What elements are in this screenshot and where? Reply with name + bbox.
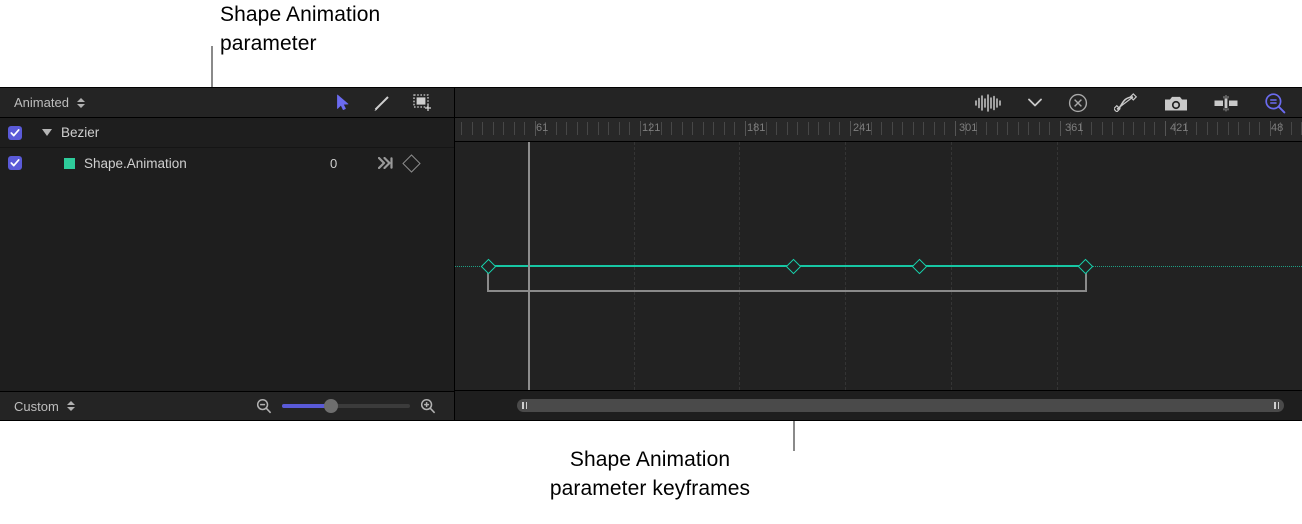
ruler-tick [493, 122, 494, 135]
parameter-row-shape-animation[interactable]: Shape.Animation 0 [0, 148, 454, 178]
snapshot-camera-icon[interactable] [1164, 94, 1188, 112]
ruler-tick [682, 122, 683, 135]
ruler-label: 61 [536, 122, 548, 134]
ruler-label: 121 [642, 122, 660, 134]
shape-animation-color-swatch [64, 158, 75, 169]
parameter-rows: Bezier Shape.Animation 0 [0, 118, 454, 391]
ruler-tick [598, 122, 599, 135]
ruler-tick [1165, 121, 1166, 136]
next-keyframe-icon[interactable] [378, 157, 395, 169]
ruler-tick [1249, 122, 1250, 135]
ruler-tick [1123, 122, 1124, 135]
ruler-tick [556, 122, 557, 135]
parameter-list-pane: Animated [0, 88, 455, 420]
ruler-tick [1144, 122, 1145, 135]
reset-circle-x-icon[interactable] [1068, 93, 1088, 113]
ruler-tick [566, 122, 567, 135]
graph-toolbar [455, 88, 1302, 118]
ruler-tick [892, 122, 893, 135]
ruler-tick [1049, 122, 1050, 135]
ruler-tick [703, 122, 704, 135]
keyframe-editor-window: Animated [0, 87, 1302, 421]
ruler-tick [692, 122, 693, 135]
parameter-list-footer: Custom [0, 391, 454, 420]
ruler-tick [997, 122, 998, 135]
curve-editor-icon[interactable] [1114, 93, 1138, 112]
ruler-tick [1102, 122, 1103, 135]
graph-footer [455, 390, 1302, 420]
ruler-tick [839, 122, 840, 135]
ruler-tick [1228, 122, 1229, 135]
ruler-tick [881, 122, 882, 135]
ruler-tick [902, 122, 903, 135]
ruler-tick [1238, 122, 1239, 135]
ruler-tick [829, 122, 830, 135]
ruler-tick [913, 122, 914, 135]
chevron-down-icon[interactable] [1028, 98, 1042, 107]
ruler-tick [1112, 122, 1113, 135]
parameter-row-bezier[interactable]: Bezier [0, 118, 454, 148]
bezier-enable-checkbox[interactable] [8, 126, 22, 140]
curve-preset-popup[interactable]: Custom [14, 399, 75, 414]
ruler-label: 301 [959, 122, 977, 134]
ruler-tick [619, 122, 620, 135]
ruler-label: 181 [747, 122, 765, 134]
keyframe-graph-pane: 6112118124130136142148 [455, 88, 1302, 420]
zoom-search-icon[interactable] [1264, 92, 1286, 114]
ruler-tick [482, 122, 483, 135]
audio-waveform-icon[interactable] [974, 94, 1002, 112]
ruler-tick [1060, 121, 1061, 136]
ruler-tick [661, 122, 662, 135]
ruler-tick [472, 122, 473, 135]
animated-filter-popup[interactable]: Animated [14, 95, 85, 110]
ruler-tick [577, 122, 578, 135]
scrollbar-grip-right[interactable] [1274, 402, 1279, 409]
ruler-tick [1007, 122, 1008, 135]
ruler-tick [461, 122, 462, 135]
ruler-tick [923, 122, 924, 135]
shape-animation-value[interactable]: 0 [330, 156, 337, 171]
ruler-tick [1207, 122, 1208, 135]
horizontal-scrollbar[interactable] [517, 399, 1284, 412]
ruler-tick [640, 121, 641, 136]
playhead[interactable] [528, 142, 530, 390]
ruler-tick [1217, 122, 1218, 135]
ruler-tick [1196, 122, 1197, 135]
ruler-tick [1091, 122, 1092, 135]
ruler-tick [524, 122, 525, 135]
fit-view-icon[interactable] [1214, 94, 1238, 112]
shape-animation-label: Shape.Animation [84, 156, 187, 171]
parameter-list-tools [336, 94, 432, 112]
ruler-label: 421 [1170, 122, 1188, 134]
ruler-label: 361 [1065, 122, 1083, 134]
ruler-tick [818, 122, 819, 135]
ruler-tick [724, 122, 725, 135]
ruler-tick [1018, 122, 1019, 135]
keyframe-range-bracket [487, 266, 1087, 292]
ruler-tick [1259, 122, 1260, 135]
selection-arrow-tool[interactable] [336, 94, 351, 111]
ruler-tick [514, 122, 515, 135]
ruler-label: 241 [853, 122, 871, 134]
add-keyframe-diamond-icon[interactable] [402, 154, 420, 172]
callout-shape-animation-parameter: Shape Animation parameter [220, 0, 380, 58]
ruler-tick [1039, 122, 1040, 135]
ruler-tick [850, 121, 851, 136]
zoom-out-icon[interactable] [256, 398, 272, 414]
parameter-list-header: Animated [0, 88, 454, 118]
ruler-tick [986, 122, 987, 135]
marquee-tool[interactable] [413, 94, 432, 112]
pen-tool[interactable] [373, 94, 391, 112]
ruler-tick [955, 121, 956, 136]
stepper-updown-icon [77, 98, 85, 108]
ruler-tick [503, 122, 504, 135]
zoom-slider-thumb[interactable] [324, 399, 338, 413]
ruler-tick [776, 122, 777, 135]
shape-animation-enable-checkbox[interactable] [8, 156, 22, 170]
ruler-tick [608, 122, 609, 135]
ruler-tick [934, 122, 935, 135]
ruler-tick [1154, 122, 1155, 135]
curve-preset-label: Custom [14, 399, 59, 414]
ruler-tick [671, 122, 672, 135]
ruler-tick [713, 122, 714, 135]
callout-shape-animation-keyframes: Shape Animation parameter keyframes [500, 445, 800, 503]
ruler-tick [1291, 122, 1292, 135]
scrollbar-grip-left[interactable] [522, 402, 527, 409]
ruler-tick [944, 122, 945, 135]
ruler-tick [629, 122, 630, 135]
timeline-ruler[interactable]: 6112118124130136142148 [455, 118, 1302, 142]
keyframe-graph-canvas[interactable] [455, 142, 1302, 390]
animated-filter-label: Animated [14, 95, 69, 110]
zoom-slider[interactable] [282, 404, 410, 408]
bezier-label: Bezier [61, 125, 99, 140]
ruler-tick [587, 122, 588, 135]
ruler-tick [808, 122, 809, 135]
ruler-tick [787, 122, 788, 135]
ruler-label: 48 [1271, 122, 1283, 134]
stepper-updown-icon [67, 401, 75, 411]
ruler-tick [766, 122, 767, 135]
ruler-tick [1133, 122, 1134, 135]
ruler-tick [734, 122, 735, 135]
ruler-tick [797, 122, 798, 135]
zoom-in-icon[interactable] [420, 398, 436, 414]
ruler-tick [745, 121, 746, 136]
zoom-slider-controls [256, 398, 436, 414]
ruler-tick [1028, 122, 1029, 135]
bezier-disclosure-triangle-icon[interactable] [42, 129, 52, 136]
